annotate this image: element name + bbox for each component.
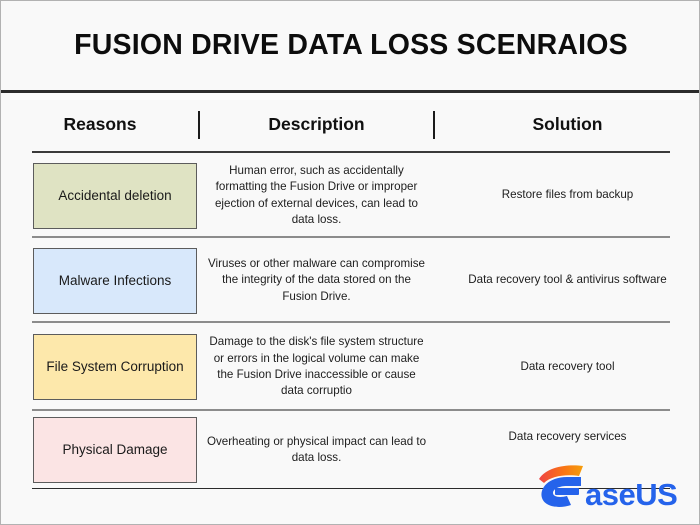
column-header-reasons: Reasons	[1, 97, 199, 151]
title-band: FUSION DRIVE DATA LOSS SCENRAIOS	[1, 1, 700, 90]
solution-cell: Data recovery tool	[434, 359, 700, 375]
title-divider	[1, 90, 700, 93]
column-header-solution: Solution	[434, 97, 700, 151]
infographic-card: FUSION DRIVE DATA LOSS SCENRAIOS Reasons…	[0, 0, 700, 525]
description-cell: Human error, such as accidentally format…	[199, 163, 434, 229]
reason-cell: File System Corruption	[1, 334, 199, 400]
table-row: Malware Infections Viruses or other malw…	[1, 238, 700, 323]
reason-chip-file-system-corruption: File System Corruption	[33, 334, 197, 400]
table-header-row: Reasons Description Solution	[1, 97, 700, 151]
easeus-logo: aseUS	[533, 463, 685, 511]
reason-chip-accidental-deletion: Accidental deletion	[33, 163, 197, 229]
header-divider-1	[198, 111, 200, 139]
reason-cell: Malware Infections	[1, 248, 199, 314]
solution-cell: Restore files from backup	[434, 187, 700, 203]
reason-chip-physical-damage: Physical Damage	[33, 417, 197, 483]
solution-cell: Data recovery services	[434, 411, 700, 445]
solution-cell: Data recovery tool & antivirus software	[434, 272, 700, 288]
table-body: Accidental deletion Human error, such as…	[1, 153, 700, 489]
column-header-description: Description	[199, 97, 434, 151]
table-row: Accidental deletion Human error, such as…	[1, 153, 700, 238]
description-cell: Overheating or physical impact can lead …	[199, 434, 434, 467]
reason-cell: Physical Damage	[1, 417, 199, 483]
reason-chip-malware-infections: Malware Infections	[33, 248, 197, 314]
description-cell: Damage to the disk's file system structu…	[199, 334, 434, 400]
reason-cell: Accidental deletion	[1, 163, 199, 229]
table-row: File System Corruption Damage to the dis…	[1, 323, 700, 411]
svg-text:aseUS: aseUS	[585, 477, 677, 511]
description-cell: Viruses or other malware can compromise …	[199, 256, 434, 305]
page-title: FUSION DRIVE DATA LOSS SCENRAIOS	[74, 29, 628, 62]
header-divider-2	[433, 111, 435, 139]
